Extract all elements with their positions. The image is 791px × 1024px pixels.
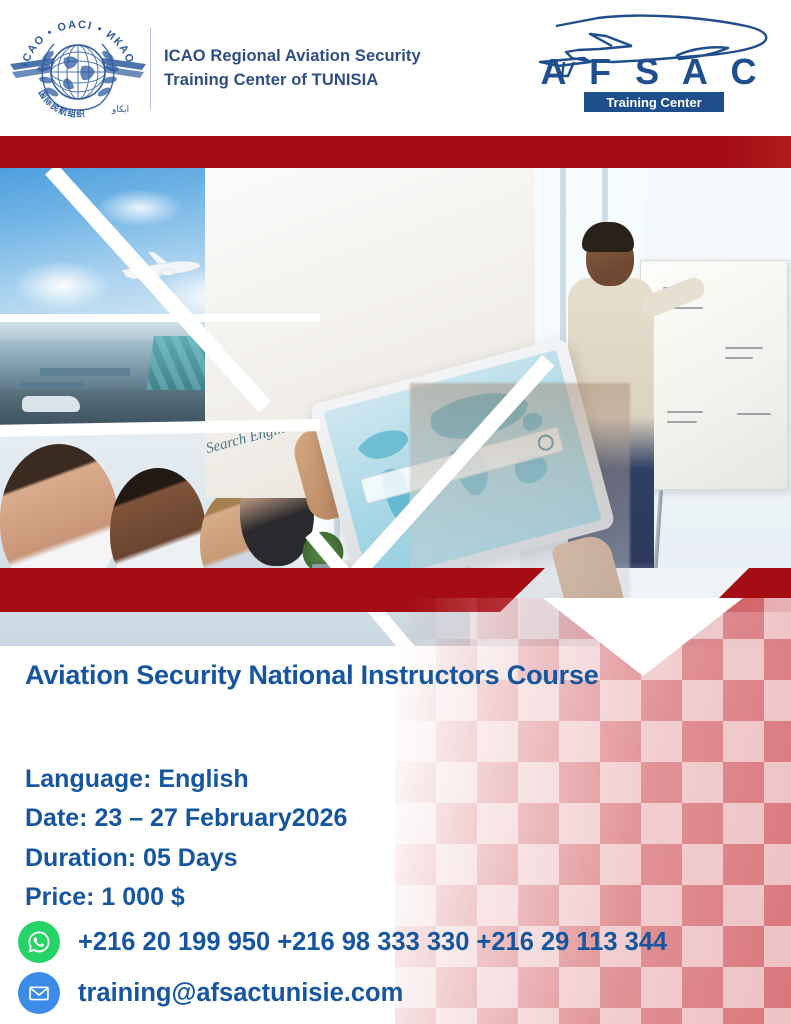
afsac-wordmark: A F S A C — [541, 51, 764, 92]
airport-parked-plane — [22, 396, 80, 412]
header-title-line1: ICAO Regional Aviation Security — [164, 45, 494, 69]
detail-duration: Duration: 05 Days — [25, 839, 347, 878]
airport-jetbridge-1 — [40, 368, 130, 376]
header-title-line2: Training Center of TUNISIA — [164, 69, 494, 93]
poster-root: ICAO • OACI • ИКАО 国际民航组织 ايكاو ICAO Reg… — [0, 0, 791, 1024]
header-title: ICAO Regional Aviation Security Training… — [164, 45, 494, 93]
contact-phones-row: +216 20 199 950 +216 98 333 330 +216 29 … — [18, 921, 667, 963]
afsac-ribbon-label: Training Center — [606, 95, 701, 110]
course-details: Language: English Date: 23 – 27 February… — [25, 760, 347, 917]
whiteboard-mark — [725, 347, 763, 349]
envelope-icon[interactable] — [18, 972, 60, 1014]
email-address[interactable]: training@afsactunisie.com — [78, 979, 403, 1008]
icao-logo: ICAO • OACI • ИКАО 国际民航组织 ايكاو — [8, 8, 148, 128]
page-title: Aviation Security National Instructors C… — [25, 660, 599, 691]
red-band-top-fade — [560, 136, 791, 168]
whiteboard-mark — [737, 413, 771, 415]
whiteboard-mark — [667, 411, 703, 413]
phone-numbers[interactable]: +216 20 199 950 +216 98 333 330 +216 29 … — [78, 928, 667, 957]
airport-jetbridge-2 — [20, 382, 84, 388]
detail-price: Price: 1 000 $ — [25, 878, 347, 917]
contact-email-row: training@afsactunisie.com — [18, 972, 403, 1014]
whatsapp-icon[interactable] — [18, 921, 60, 963]
detail-language: Language: English — [25, 760, 347, 799]
icao-arabic-text: ايكاو — [111, 104, 129, 115]
whiteboard-mark — [725, 357, 753, 359]
collage-seam-horizontal-top — [0, 314, 320, 322]
header-divider — [150, 28, 151, 110]
whiteboard-mark — [667, 421, 697, 423]
header: ICAO • OACI • ИКАО 国际民航组织 ايكاو ICAO Reg… — [0, 0, 791, 136]
afsac-logo: A F S A C Training Center — [528, 4, 778, 116]
detail-date: Date: 23 – 27 February2026 — [25, 799, 347, 838]
